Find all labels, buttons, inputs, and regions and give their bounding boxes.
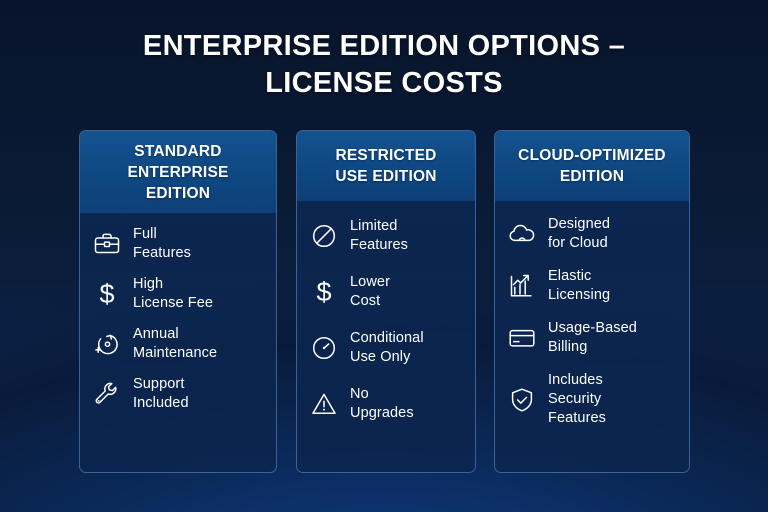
card-header-cloud-optimized-edition: CLOUD-OPTIMIZED EDITION [495, 131, 689, 201]
card-header-line: EDITION [127, 183, 228, 204]
dollar-sign-icon: $ [309, 277, 339, 307]
feature-label: Usage-Based Billing [548, 319, 637, 357]
card-body-standard-enterprise-edition: Full Features $ High License Fee [80, 213, 276, 472]
feature-label-line: Limited [350, 218, 397, 234]
feature-label-line: License Fee [133, 295, 213, 311]
feature-item: Includes Security Features [507, 371, 679, 428]
feature-label-line: High [133, 276, 163, 292]
feature-label-line: Use Only [350, 349, 410, 365]
feature-label: High License Fee [133, 275, 213, 313]
feature-label: Lower Cost [350, 273, 390, 311]
feature-label-line: Cost [350, 293, 380, 309]
feature-item: Annual Maintenance [92, 325, 266, 363]
feature-label-line: Support [133, 376, 185, 392]
card-header-line: CLOUD-OPTIMIZED [518, 145, 666, 166]
feature-label-line: Conditional [350, 330, 424, 346]
card-header-restricted-use-edition: RESTRICTED USE EDITION [297, 131, 475, 201]
infographic-root: ENTERPRISE EDITION OPTIONS – LICENSE COS… [0, 0, 768, 512]
feature-item: Conditional Use Only [309, 329, 465, 367]
feature-label-line: Maintenance [133, 345, 217, 361]
feature-label-line: No [350, 386, 369, 402]
page-title: ENTERPRISE EDITION OPTIONS – LICENSE COS… [0, 28, 768, 102]
feature-label: Annual Maintenance [133, 325, 217, 363]
feature-label: Designed for Cloud [548, 215, 610, 253]
dollar-sign-icon: $ [92, 279, 122, 309]
feature-label-line: for Cloud [548, 235, 608, 251]
feature-label-line: Security [548, 391, 601, 407]
feature-label: Includes Security Features [548, 371, 606, 428]
feature-label-line: Usage-Based [548, 320, 637, 336]
feature-label-line: Features [350, 237, 408, 253]
feature-label: Support Included [133, 375, 189, 413]
feature-label-line: Full [133, 226, 157, 242]
renewal-cycle-icon [92, 329, 122, 359]
card-body-restricted-use-edition: Limited Features $ Lower Cost [297, 201, 475, 472]
shield-check-icon [507, 385, 537, 415]
prohibited-icon [309, 221, 339, 251]
feature-label-line: Elastic [548, 268, 591, 284]
card-header-standard-enterprise-edition: STANDARD ENTERPRISE EDITION [80, 131, 276, 213]
feature-label-line: Licensing [548, 287, 610, 303]
gauge-icon [309, 333, 339, 363]
page-title-line-1: ENTERPRISE EDITION OPTIONS – [0, 28, 768, 65]
wrench-icon [92, 379, 122, 409]
feature-item: Elastic Licensing [507, 267, 679, 305]
feature-item: Usage-Based Billing [507, 319, 679, 357]
feature-label-line: Lower [350, 274, 390, 290]
card-restricted-use-edition[interactable]: RESTRICTED USE EDITION Limited Features [296, 130, 476, 473]
page-title-line-2: LICENSE COSTS [0, 65, 768, 102]
card-cloud-optimized-edition[interactable]: CLOUD-OPTIMIZED EDITION Designed for Clo… [494, 130, 690, 473]
feature-label: Conditional Use Only [350, 329, 424, 367]
feature-item: Designed for Cloud [507, 215, 679, 253]
feature-label-line: Features [548, 410, 606, 426]
cloud-icon [507, 219, 537, 249]
feature-label: Elastic Licensing [548, 267, 610, 305]
card-body-cloud-optimized-edition: Designed for Cloud Elastic Licensing [495, 201, 689, 472]
card-header-line: RESTRICTED [335, 145, 436, 166]
feature-item: Limited Features [309, 217, 465, 255]
credit-card-icon [507, 323, 537, 353]
warning-triangle-icon [309, 389, 339, 419]
feature-item: Support Included [92, 375, 266, 413]
feature-label-line: Features [133, 245, 191, 261]
feature-label-line: Upgrades [350, 405, 414, 421]
card-header-line: EDITION [518, 166, 666, 187]
card-header-line: STANDARD [127, 141, 228, 162]
feature-label-line: Annual [133, 326, 179, 342]
feature-label: No Upgrades [350, 385, 414, 423]
feature-label: Full Features [133, 225, 191, 263]
feature-label-line: Designed [548, 216, 610, 232]
card-header-line: ENTERPRISE [127, 162, 228, 183]
briefcase-icon [92, 229, 122, 259]
feature-label-line: Includes [548, 372, 603, 388]
card-header-line: USE EDITION [335, 166, 436, 187]
feature-item: $ High License Fee [92, 275, 266, 313]
feature-item: No Upgrades [309, 385, 465, 423]
feature-item: $ Lower Cost [309, 273, 465, 311]
feature-label-line: Included [133, 395, 189, 411]
card-standard-enterprise-edition[interactable]: STANDARD ENTERPRISE EDITION Full Featu [79, 130, 277, 473]
feature-item: Full Features [92, 225, 266, 263]
feature-label: Limited Features [350, 217, 408, 255]
growth-chart-icon [507, 271, 537, 301]
feature-label-line: Billing [548, 339, 587, 355]
